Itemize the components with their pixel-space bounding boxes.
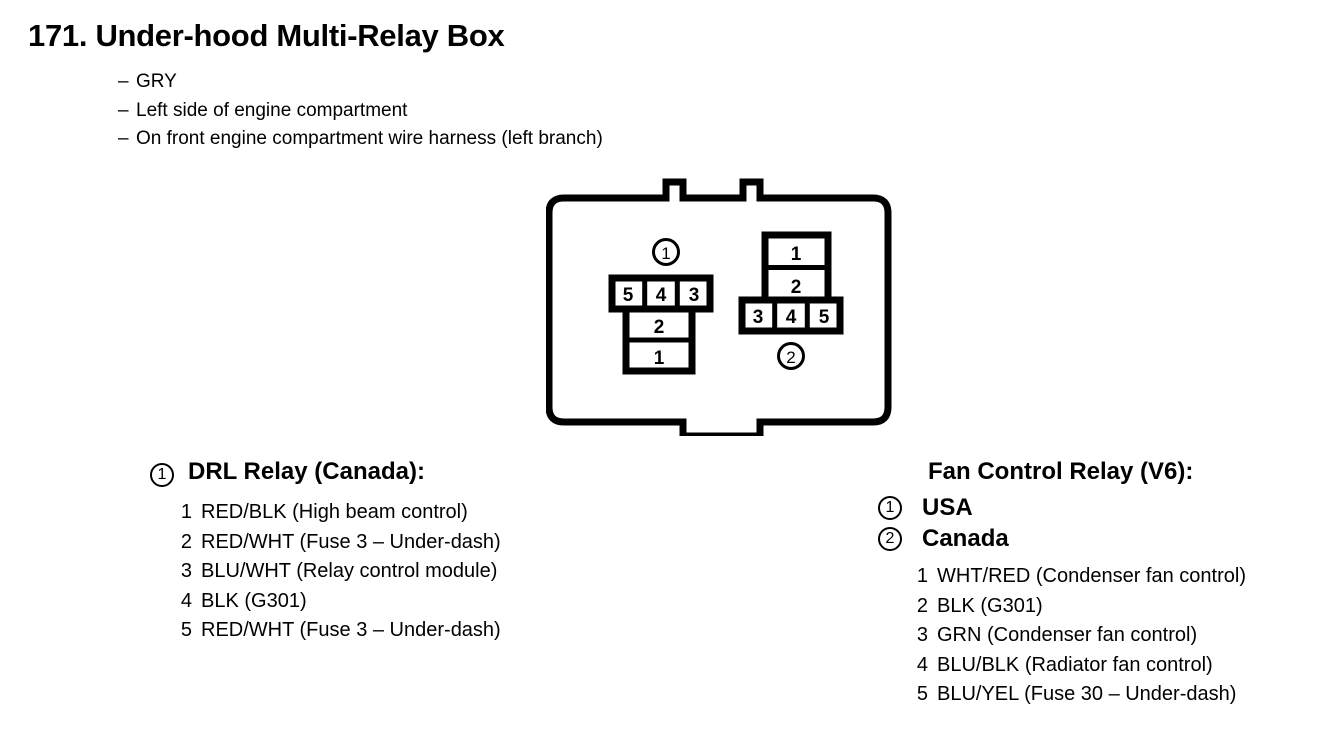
pin-description: RED/WHT (Fuse 3 – Under-dash) <box>201 619 501 641</box>
relay-1-pin-2: 2 <box>654 317 665 338</box>
pin-description: BLK (G301) <box>201 590 307 612</box>
pin-description: WHT/RED (Condenser fan control) <box>937 565 1246 587</box>
variant-marker-2: 2 <box>878 527 902 551</box>
pin-description: BLU/BLK (Radiator fan control) <box>937 654 1213 676</box>
legend-right-heading: Fan Control Relay (V6): <box>878 458 1246 492</box>
bullet-text: On front engine compartment wire harness… <box>136 128 603 149</box>
list-item: –On front engine compartment wire harnes… <box>118 125 603 154</box>
pin-number: 5 <box>170 616 192 646</box>
relay-2-marker-label: 2 <box>786 348 795 367</box>
relay-1-pin-5: 5 <box>623 285 634 306</box>
variant-label-usa: USA <box>922 494 973 521</box>
relay-2-pin-1: 1 <box>791 244 802 265</box>
list-item: 1WHT/RED (Condenser fan control) <box>906 562 1246 592</box>
list-item: 3BLU/WHT (Relay control module) <box>170 557 501 587</box>
list-item: 1RED/BLK (High beam control) <box>170 498 501 528</box>
list-item: 4BLK (G301) <box>170 587 501 617</box>
legend-left-pin-list: 1RED/BLK (High beam control) 2RED/WHT (F… <box>170 498 501 646</box>
relay-1-marker-label: 1 <box>661 244 670 263</box>
relay-1-pin-3: 3 <box>689 285 700 306</box>
pin-number: 2 <box>170 528 192 558</box>
relay-1-group: 1 5 4 3 2 1 <box>612 240 710 372</box>
pin-number: 4 <box>906 651 928 681</box>
relay-2-pin-4: 4 <box>786 307 797 328</box>
relay-1-pin-1: 1 <box>654 348 665 369</box>
pin-number: 1 <box>170 498 192 528</box>
pin-number: 4 <box>170 587 192 617</box>
pin-description: BLU/YEL (Fuse 30 – Under-dash) <box>937 683 1236 705</box>
pin-number: 3 <box>906 621 928 651</box>
pin-number: 2 <box>906 592 928 622</box>
list-item: 5RED/WHT (Fuse 3 – Under-dash) <box>170 616 501 646</box>
pin-description: BLK (G301) <box>937 595 1043 617</box>
list-item: –Left side of engine compartment <box>118 97 603 126</box>
legend-right-variant-canada: 2Canada <box>878 523 1246 554</box>
relay-1-pin-4: 4 <box>656 285 667 306</box>
relay-2-pin-5: 5 <box>819 307 830 328</box>
list-item: 5BLU/YEL (Fuse 30 – Under-dash) <box>906 680 1246 710</box>
bullet-text: GRY <box>136 71 177 92</box>
relay-box-svg: 1 5 4 3 2 1 1 2 3 4 5 <box>546 168 896 436</box>
relay-2-pin-2: 2 <box>791 277 802 298</box>
legend-right-title: Fan Control Relay (V6): <box>928 458 1193 485</box>
list-item: 2BLK (G301) <box>906 592 1246 622</box>
legend-right-variant-usa: 1USA <box>878 492 1246 523</box>
page-title: 171. Under-hood Multi-Relay Box <box>28 18 504 54</box>
pin-description: RED/WHT (Fuse 3 – Under-dash) <box>201 531 501 553</box>
legend-left-title: DRL Relay (Canada): <box>188 458 425 485</box>
bullet-text: Left side of engine compartment <box>136 100 407 121</box>
list-item: 3GRN (Condenser fan control) <box>906 621 1246 651</box>
relay-box-diagram: 1 5 4 3 2 1 1 2 3 4 5 <box>546 168 896 436</box>
legend-right-pin-list: 1WHT/RED (Condenser fan control) 2BLK (G… <box>906 562 1246 710</box>
variant-label-canada: Canada <box>922 525 1009 552</box>
pin-description: BLU/WHT (Relay control module) <box>201 560 497 582</box>
legend-left-heading: 1DRL Relay (Canada): <box>150 458 501 498</box>
pin-number: 1 <box>906 562 928 592</box>
pin-number: 5 <box>906 680 928 710</box>
header-bullet-list: –GRY –Left side of engine compartment –O… <box>118 68 603 154</box>
legend-drl-relay: 1DRL Relay (Canada): 1RED/BLK (High beam… <box>150 458 501 646</box>
pin-description: RED/BLK (High beam control) <box>201 501 468 523</box>
list-item: 4BLU/BLK (Radiator fan control) <box>906 651 1246 681</box>
variant-marker-1: 1 <box>878 496 902 520</box>
list-item: 2RED/WHT (Fuse 3 – Under-dash) <box>170 528 501 558</box>
dash-icon: – <box>118 68 136 97</box>
relay-2-group: 1 2 3 4 5 2 <box>742 235 840 369</box>
dash-icon: – <box>118 125 136 154</box>
dash-icon: – <box>118 97 136 126</box>
legend-left-marker: 1 <box>150 463 174 487</box>
legend-fan-control-relay: Fan Control Relay (V6): 1USA 2Canada 1WH… <box>878 458 1246 710</box>
pin-description: GRN (Condenser fan control) <box>937 624 1197 646</box>
relay-2-pin-3: 3 <box>753 307 764 328</box>
list-item: –GRY <box>118 68 603 97</box>
pin-number: 3 <box>170 557 192 587</box>
